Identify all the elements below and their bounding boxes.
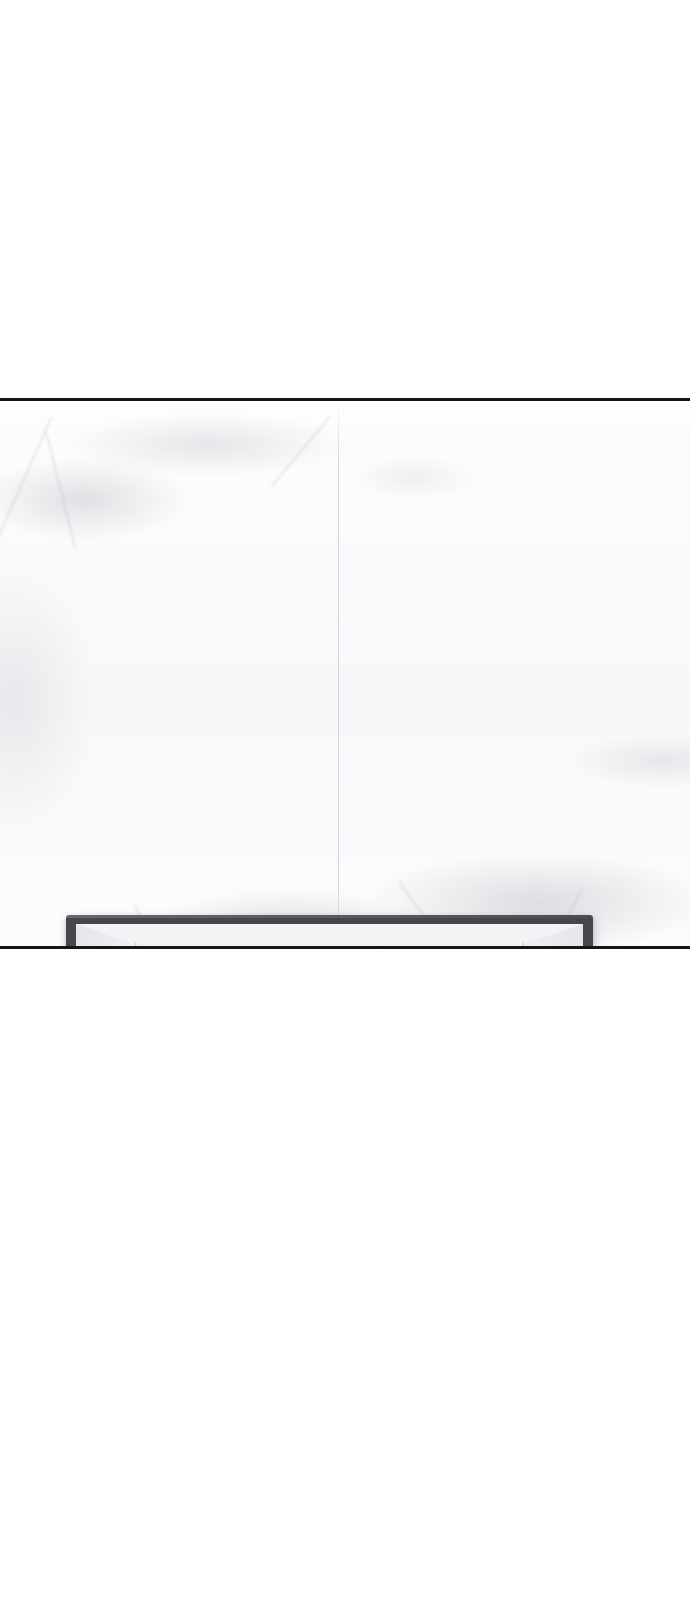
press-conference-room: [76, 924, 583, 949]
tv-screen: GBC 후준 긴급 기자회견: [76, 924, 583, 949]
wall-panel-seam: [338, 401, 339, 949]
gutter-below-panel: [0, 949, 690, 1600]
ceiling-line: [76, 930, 583, 949]
marble-wall-background: [0, 401, 690, 946]
comic-panel: GBC 후준 긴급 기자회견: [0, 398, 690, 949]
television: GBC 후준 긴급 기자회견: [66, 915, 593, 949]
webtoon-strip: GBC 후준 긴급 기자회견: [0, 0, 690, 1600]
gutter-above-panel: [0, 0, 690, 398]
